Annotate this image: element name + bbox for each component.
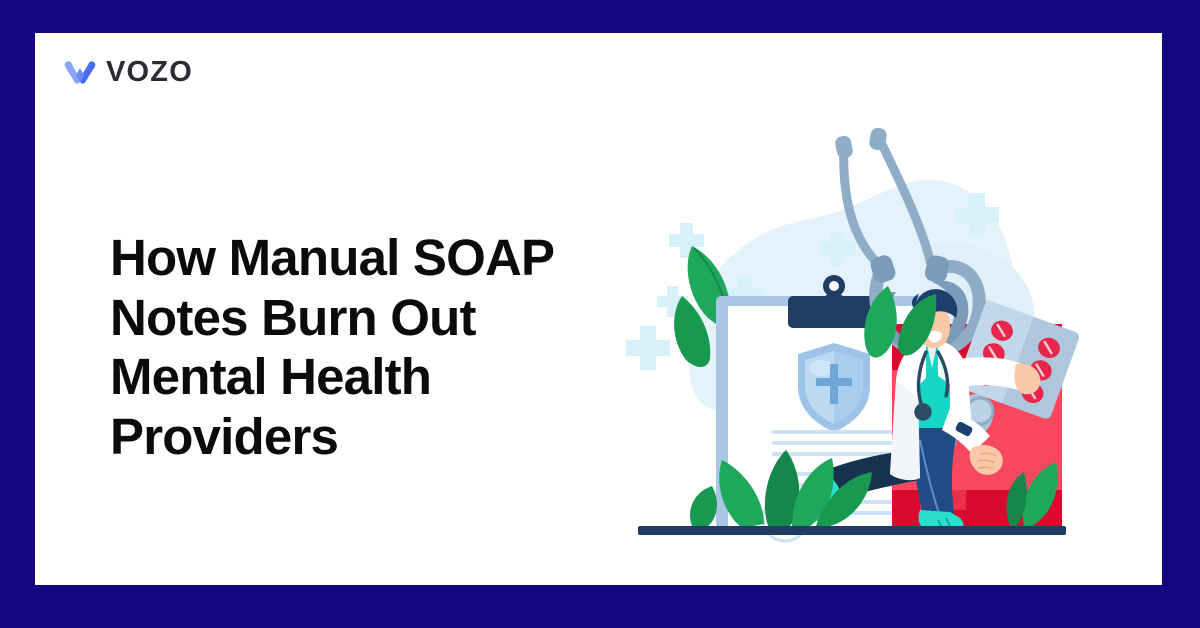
ground-line bbox=[638, 526, 1066, 535]
vozo-heart-v-mark-icon bbox=[63, 55, 97, 89]
page-title: How Manual SOAP Notes Burn Out Mental He… bbox=[110, 228, 610, 467]
banner-card: VOZO How Manual SOAP Notes Burn Out Ment… bbox=[35, 33, 1162, 585]
brand-logo[interactable]: VOZO bbox=[63, 55, 193, 89]
brand-wordmark: VOZO bbox=[106, 58, 193, 87]
medical-records-doctor-illustration bbox=[620, 128, 1090, 548]
doctor-lab-coat bbox=[950, 357, 1022, 390]
banner-frame: VOZO How Manual SOAP Notes Burn Out Ment… bbox=[0, 0, 1200, 628]
